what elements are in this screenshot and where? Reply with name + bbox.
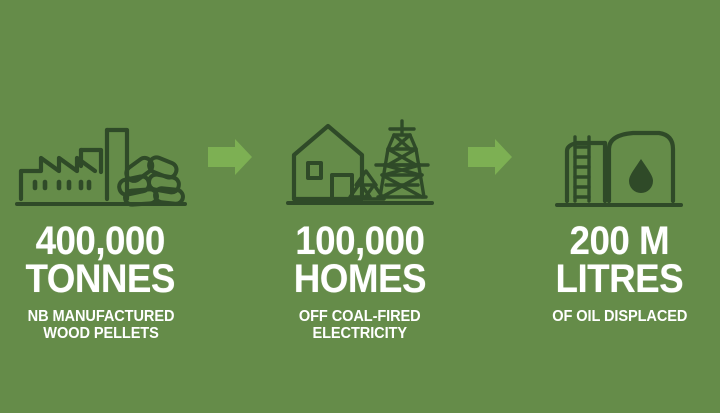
stats-row: 400,000 TONNES NB MANUFACTURED WOOD PELL… xyxy=(0,0,720,413)
stat-caption-line2: ELECTRICITY xyxy=(299,325,421,342)
arrow-wrapper-2 xyxy=(467,104,513,209)
stat-text-oil: 200 M LITRES OF OIL DISPLACED xyxy=(548,222,692,325)
infographic-canvas: 400,000 TONNES NB MANUFACTURED WOOD PELL… xyxy=(0,0,720,413)
stat-caption-oil: OF OIL DISPLACED xyxy=(552,308,687,325)
pylon-lines xyxy=(376,121,428,197)
arrow-wrapper-1 xyxy=(207,104,253,209)
stat-text-wood-pellets: 400,000 TONNES NB MANUFACTURED WOOD PELL… xyxy=(19,222,181,343)
stat-value-line1: 200 M xyxy=(556,222,684,260)
arrow-column-1 xyxy=(201,104,259,209)
oil-storage-tanks-icon xyxy=(519,104,720,209)
stat-caption-homes: OFF COAL-FIRED ELECTRICITY xyxy=(299,308,421,343)
stat-value-homes: 100,000 HOMES xyxy=(294,222,426,299)
stat-value-line2: LITRES xyxy=(556,260,684,298)
stat-text-homes: 100,000 HOMES OFF COAL-FIRED ELECTRICITY xyxy=(288,222,432,343)
stat-value-line1: 400,000 xyxy=(26,222,175,260)
stat-caption-line1: NB MANUFACTURED xyxy=(27,308,174,325)
arrow-right-icon-2 xyxy=(467,138,513,176)
stat-caption-line2: WOOD PELLETS xyxy=(27,325,174,342)
arrow-column-2 xyxy=(461,104,519,209)
stat-caption-wood-pellets: NB MANUFACTURED WOOD PELLETS xyxy=(27,308,174,343)
oil-droplet-icon xyxy=(629,159,653,193)
arrow-right-icon-1 xyxy=(207,138,253,176)
stat-column-homes: 100,000 HOMES OFF COAL-FIRED ELECTRICITY xyxy=(259,0,460,343)
stat-caption-line1: OFF COAL-FIRED xyxy=(299,308,421,325)
stat-value-wood-pellets: 400,000 TONNES xyxy=(26,222,175,299)
stat-column-oil: 200 M LITRES OF OIL DISPLACED xyxy=(519,0,720,325)
stat-column-wood-pellets: 400,000 TONNES NB MANUFACTURED WOOD PELL… xyxy=(0,0,201,343)
ladder xyxy=(575,137,589,201)
stat-caption-line1: OF OIL DISPLACED xyxy=(552,308,687,325)
factory-wood-pellets-icon xyxy=(0,104,201,209)
stat-value-oil: 200 M LITRES xyxy=(556,222,684,299)
house-power-pylon-recycling-icon xyxy=(259,104,460,209)
stat-value-line2: TONNES xyxy=(26,260,175,298)
stat-value-line2: HOMES xyxy=(294,260,426,298)
stat-value-line1: 100,000 xyxy=(294,222,426,260)
